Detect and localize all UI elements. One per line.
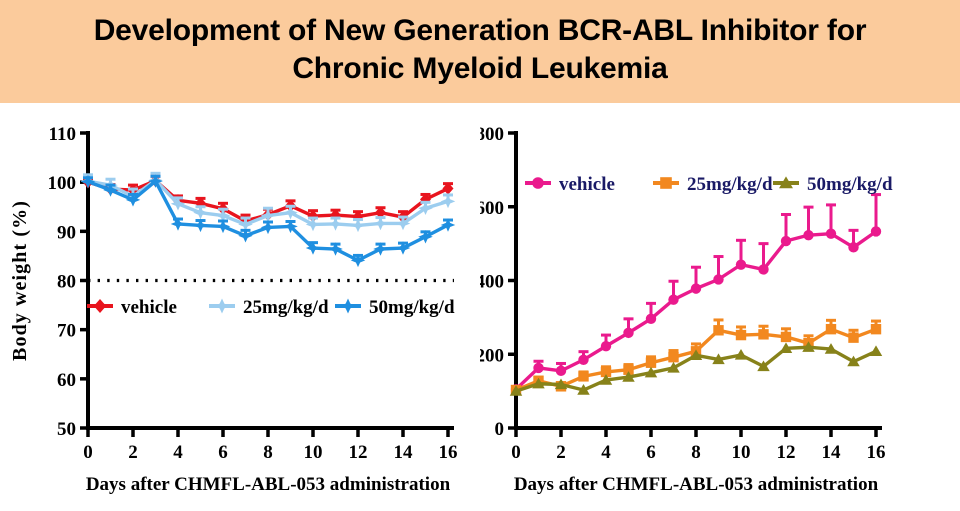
x-tick-label: 12 [777,442,796,463]
legend-marker [214,298,230,313]
data-point [216,220,231,234]
legend-marker [94,299,106,313]
series-1 [511,195,881,395]
series-line [516,231,876,389]
data-point [81,175,96,189]
y-axis-ticks: 5060708090100110 [48,124,89,440]
y-tick-label: 800 [480,124,504,145]
data-point [261,221,276,235]
data-point [578,355,588,365]
data-point [826,228,836,238]
figure-root: Development of New Generation BCR-ABL In… [0,0,960,511]
data-point [193,206,208,220]
body-weight-chart: 50607080901001100246810121416Days after … [0,103,480,511]
x-tick-label: 16 [439,442,458,463]
x-tick-label: 0 [511,442,521,463]
y-tick-label: 60 [57,370,76,391]
x-tick-label: 8 [263,442,273,463]
data-point [871,324,881,334]
x-tick-label: 14 [822,442,842,463]
legend-label: 50mg/kg/d [807,174,893,195]
data-point [373,242,388,256]
legend-marker [340,298,356,313]
y-tick-label: 0 [495,419,505,440]
x-tick-label: 14 [394,442,414,463]
y-tick-label: 90 [57,222,76,243]
data-point [646,314,656,324]
y-tick-label: 200 [480,345,504,366]
data-point [533,363,543,373]
data-point [826,324,836,334]
data-point [441,195,456,209]
data-point [691,283,701,293]
x-tick-label: 0 [83,442,93,463]
legend-marker [532,177,544,189]
data-point [556,366,566,376]
legend-label: 25mg/kg/d [243,297,329,318]
axes [86,131,454,428]
data-point [871,226,881,236]
legend: vehicle25mg/kg/d50mg/kg/d [525,174,893,195]
x-tick-label: 10 [732,442,751,463]
y-tick-label: 600 [480,198,504,219]
x-tick-label: 10 [304,442,323,463]
data-point [306,218,321,232]
y-tick-label: 50 [57,419,76,440]
data-point [758,329,768,339]
data-point [328,242,343,256]
x-tick-label: 6 [646,442,656,463]
data-point [328,217,343,231]
data-point [171,217,186,231]
chart-panel-body-weight: 50607080901001100246810121416Days after … [0,103,480,511]
data-point [870,345,882,356]
data-point [736,330,746,340]
data-point [418,230,433,244]
y-tick-label: 110 [49,124,76,145]
data-point [646,358,656,368]
data-point [351,219,366,233]
y-tick-label: 80 [57,272,76,293]
x-tick-label: 6 [218,442,228,463]
y-tick-label: 100 [48,173,77,194]
x-tick-label: 16 [867,442,886,463]
x-tick-label: 2 [556,442,566,463]
title-banner: Development of New Generation BCR-ABL In… [0,0,960,103]
y-axis-title: Body weight (%) [9,200,31,361]
data-point [238,229,253,243]
data-point [758,264,768,274]
figure-title: Development of New Generation BCR-ABL In… [94,12,867,87]
x-axis-title: Days after CHMFL-ABL-053 administration [86,474,451,495]
x-tick-label: 2 [128,442,138,463]
tumor-size-chart: 02004006008000246810121416Days after CHM… [480,103,960,511]
legend: vehicle25mg/kg/d50mg/kg/d [87,297,455,318]
data-point [848,242,858,252]
legend-label: vehicle [121,297,177,318]
legend-label: vehicle [559,174,615,195]
x-tick-label: 12 [349,442,368,463]
data-point [668,352,678,362]
data-point [601,341,611,351]
data-point [193,219,208,233]
data-point [736,259,746,269]
data-point [781,332,791,342]
x-axis-title: Days after CHMFL-ABL-053 administration [514,474,879,495]
data-point [781,236,791,246]
y-tick-label: 70 [57,321,76,342]
data-point [848,332,858,342]
data-point [713,274,723,284]
data-point [578,371,588,381]
data-point [713,325,723,335]
data-point [396,241,411,255]
x-tick-label: 4 [173,442,183,463]
x-axis-ticks: 0246810121416 [83,428,457,463]
x-axis-ticks: 0246810121416 [511,428,885,463]
data-point [373,217,388,231]
legend-label: 50mg/kg/d [369,297,455,318]
data-point [441,218,456,232]
data-point [803,230,813,240]
data-point [668,294,678,304]
data-point [351,254,366,268]
x-tick-label: 4 [601,442,611,463]
y-tick-label: 400 [480,272,504,293]
data-point [623,328,633,338]
x-tick-label: 8 [691,442,701,463]
legend-marker [660,177,672,189]
chart-panel-tumor-size: 02004006008000246810121416Days after CHM… [480,103,960,511]
legend-label: 25mg/kg/d [687,174,773,195]
y-axis-ticks: 0200400600800 [480,124,516,440]
